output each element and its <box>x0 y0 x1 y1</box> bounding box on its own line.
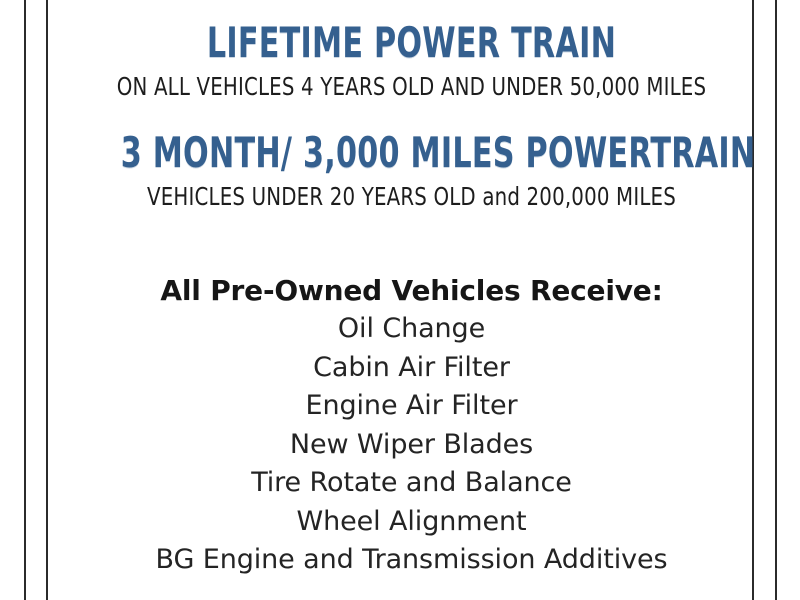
service-item: Oil Change <box>48 310 775 349</box>
included-services-section: All Pre-Owned Vehicles Receive: Oil Chan… <box>48 272 775 580</box>
flyer-content: LIFETIME POWER TRAIN ON ALL VEHICLES 4 Y… <box>48 0 775 600</box>
lifetime-powertrain-warranty-block: LIFETIME POWER TRAIN ON ALL VEHICLES 4 Y… <box>48 0 775 102</box>
service-item: Engine Air Filter <box>48 387 775 426</box>
service-item: BG Engine and Transmission Additives <box>48 541 775 580</box>
services-heading: All Pre-Owned Vehicles Receive: <box>48 272 775 310</box>
lifetime-powertrain-title: LIFETIME POWER TRAIN <box>121 20 703 66</box>
service-item: Tire Rotate and Balance <box>48 464 775 503</box>
right-outer-border-rule <box>775 0 777 600</box>
services-list: Oil ChangeCabin Air FilterEngine Air Fil… <box>48 310 775 580</box>
three-month-powertrain-title: 3 MONTH/ 3,000 MILES POWERTRAIN <box>121 130 703 176</box>
warranty-flyer: LIFETIME POWER TRAIN ON ALL VEHICLES 4 Y… <box>0 0 800 600</box>
left-outer-border-rule <box>24 0 26 600</box>
service-item: Wheel Alignment <box>48 503 775 542</box>
lifetime-powertrain-subtitle: ON ALL VEHICLES 4 YEARS OLD AND UNDER 50… <box>92 72 732 102</box>
three-month-powertrain-warranty-block: 3 MONTH/ 3,000 MILES POWERTRAIN VEHICLES… <box>48 102 775 212</box>
service-item: New Wiper Blades <box>48 426 775 465</box>
three-month-powertrain-subtitle: VEHICLES UNDER 20 YEARS OLD and 200,000 … <box>92 182 732 212</box>
service-item: Cabin Air Filter <box>48 349 775 388</box>
